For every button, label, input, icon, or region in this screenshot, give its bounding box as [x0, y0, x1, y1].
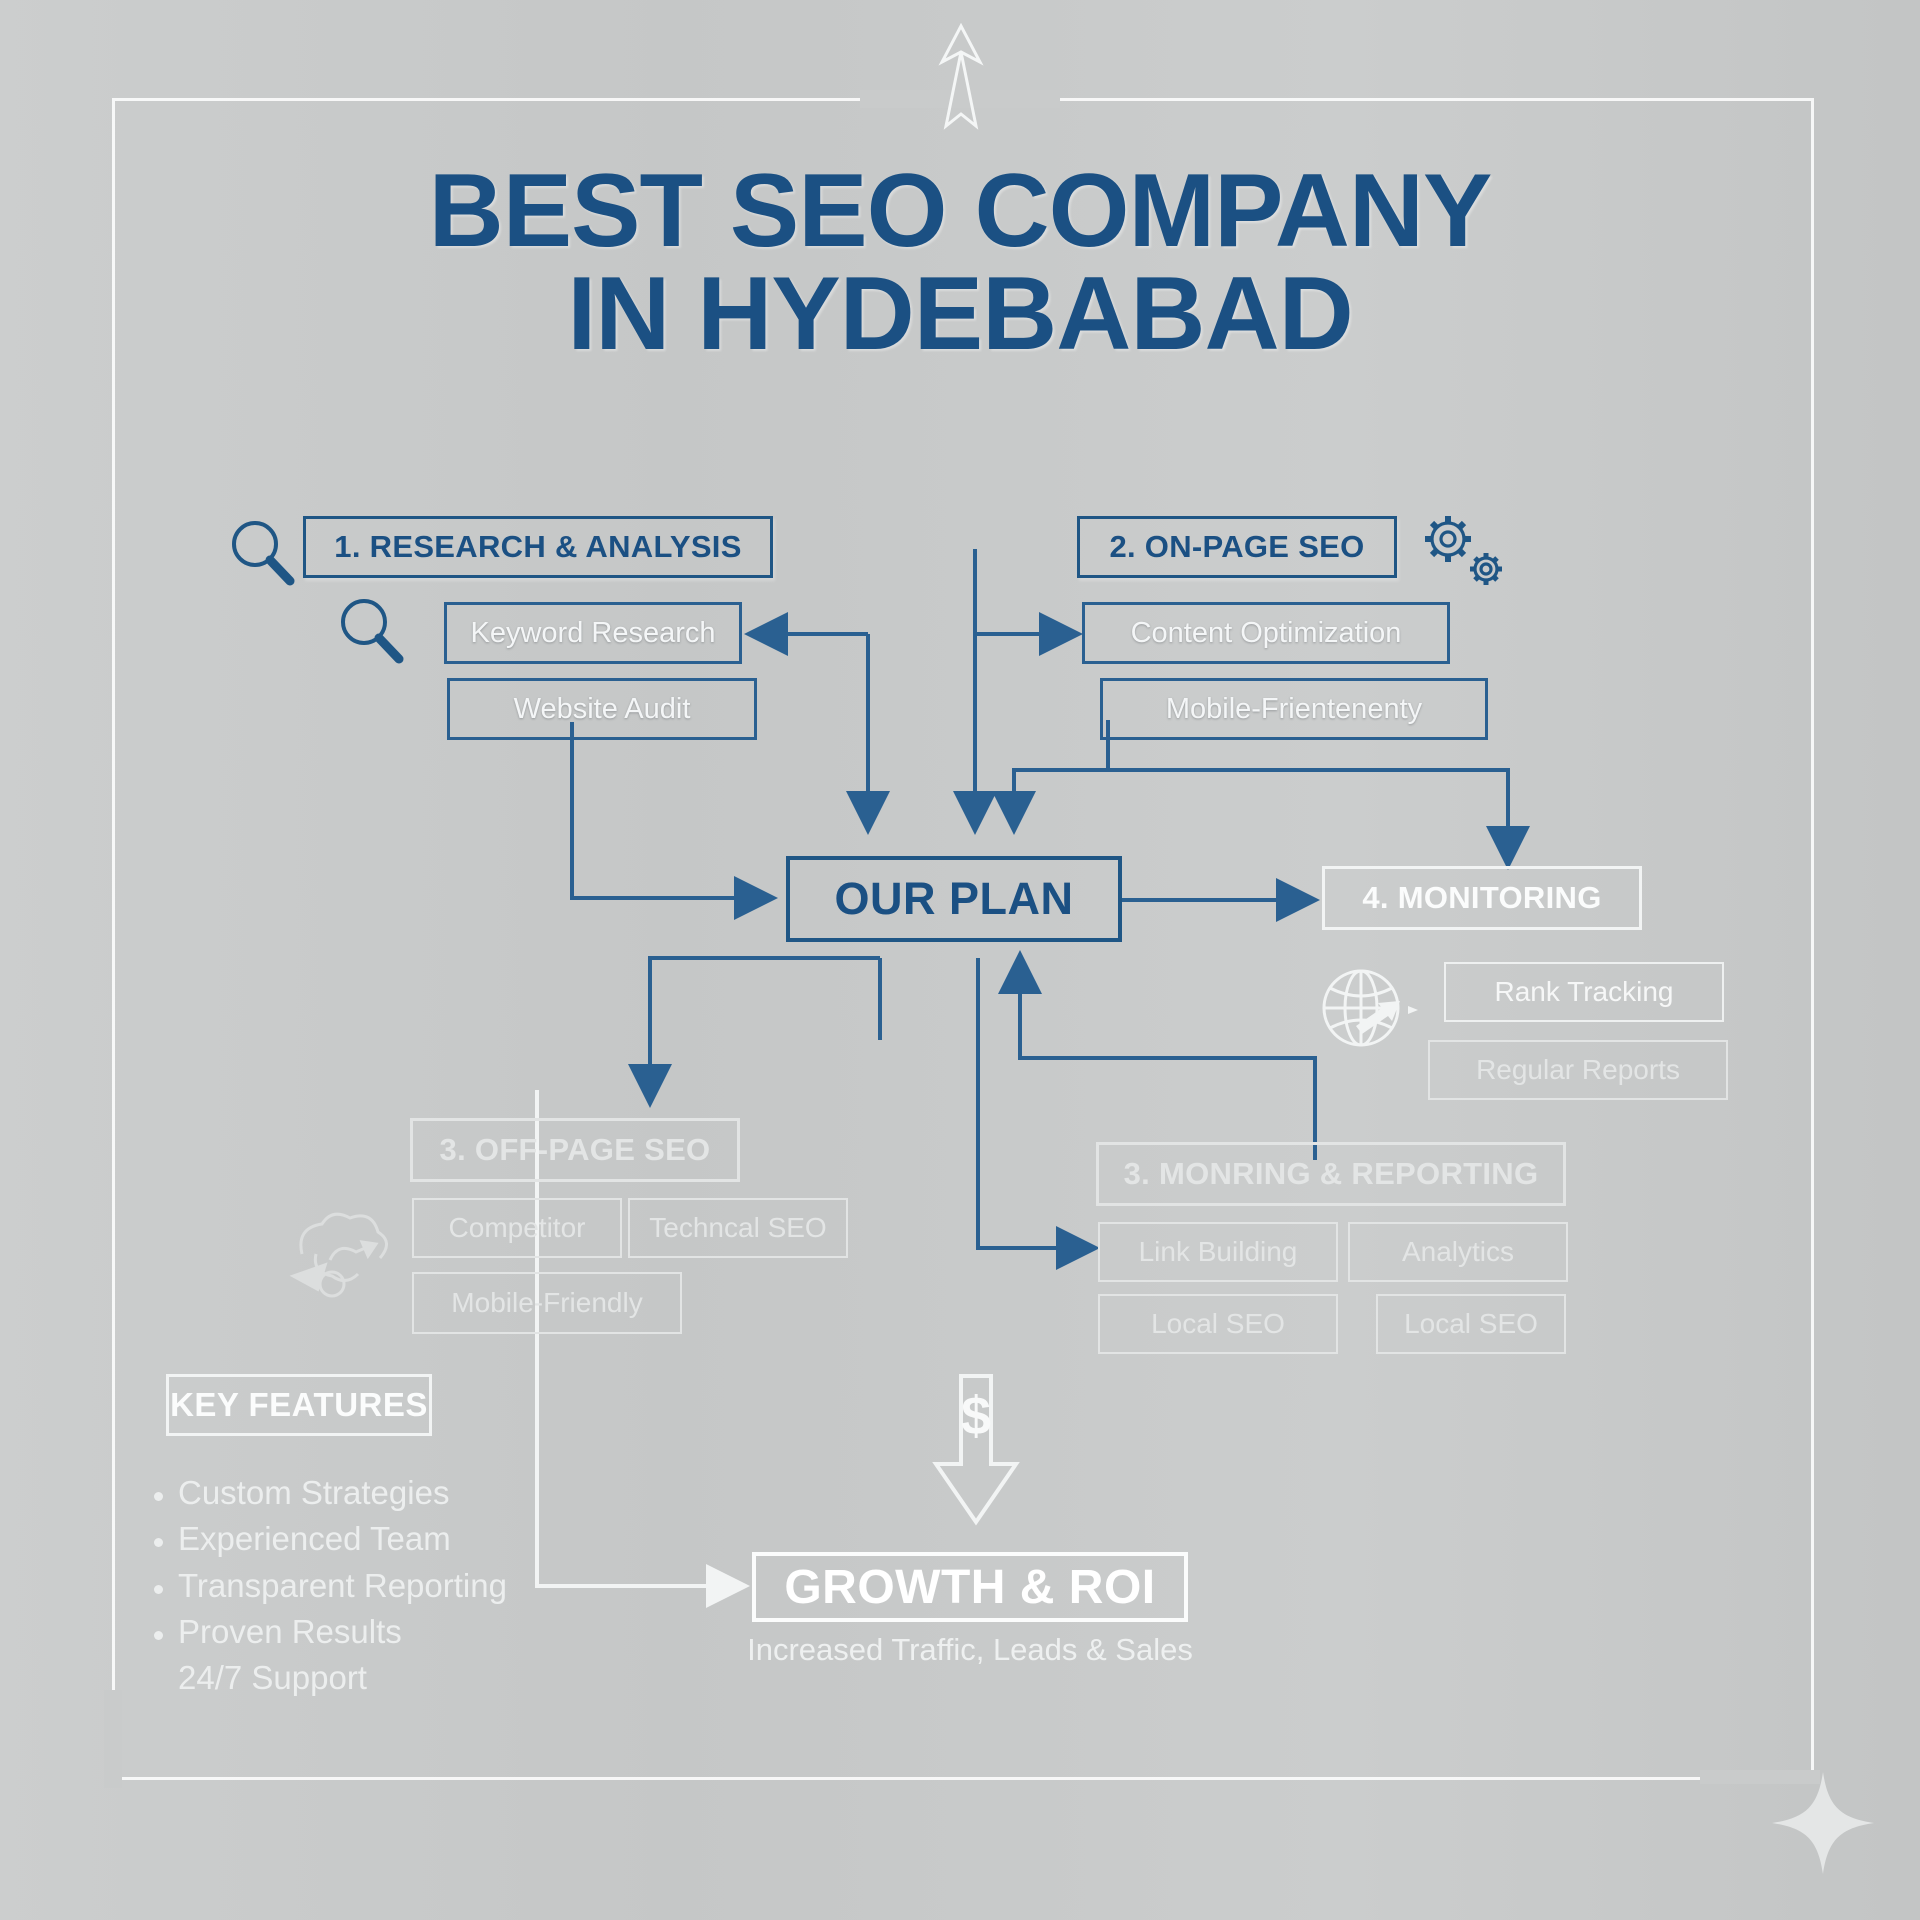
node-offpage-heading[interactable]: 3. OFF-PAGE SEO — [410, 1118, 740, 1182]
node-content-optimization[interactable]: Content Optimization — [1082, 602, 1450, 664]
node-label: Content Optimization — [1131, 617, 1402, 650]
node-label: 2. ON-PAGE SEO — [1109, 529, 1364, 565]
backlink-icon — [276, 1198, 396, 1308]
node-label: Competitor — [449, 1212, 586, 1244]
node-keyword-research[interactable]: Keyword Research — [444, 602, 742, 664]
node-website-audit[interactable]: Website Audit — [447, 678, 757, 740]
node-label: KEY FEATURES — [170, 1386, 428, 1424]
node-rank-tracking[interactable]: Rank Tracking — [1444, 962, 1724, 1022]
node-local-seo-2[interactable]: Local SEO — [1376, 1294, 1566, 1354]
key-features-list: Custom Strategies Experienced Team Trans… — [150, 1474, 670, 1697]
gears-icon — [1410, 506, 1510, 596]
dollar-down-arrow-icon: $ — [928, 1372, 1024, 1534]
node-label: Mobile-Frientenenty — [1166, 693, 1422, 726]
node-link-building[interactable]: Link Building — [1098, 1222, 1338, 1282]
magnifier-icon — [228, 518, 296, 588]
node-competitor[interactable]: Competitor — [412, 1198, 622, 1258]
key-features-heading: KEY FEATURES — [166, 1374, 432, 1436]
node-reporting-heading[interactable]: 3. MONRING & REPORTING — [1096, 1142, 1566, 1206]
list-item: Custom Strategies — [150, 1474, 670, 1512]
title-line-2: IN HYDEBABAD — [0, 263, 1920, 366]
page-title: BEST SEO COMPANY IN HYDEBABAD — [0, 160, 1920, 366]
node-local-seo-1[interactable]: Local SEO — [1098, 1294, 1338, 1354]
title-line-1: BEST SEO COMPANY — [429, 153, 1492, 269]
frame-gap-bottom-left — [104, 1690, 122, 1788]
sparkle-star-icon — [1768, 1768, 1878, 1878]
list-item: Experienced Team — [150, 1520, 670, 1558]
node-mobile-friendly[interactable]: Mobile-Friendly — [412, 1272, 682, 1334]
node-label: Mobile-Friendly — [451, 1287, 642, 1319]
node-research-heading[interactable]: 1. RESEARCH & ANALYSIS — [303, 516, 773, 578]
globe-arrow-icon — [1316, 960, 1426, 1056]
node-label: 4. MONITORING — [1362, 880, 1601, 916]
node-growth-roi[interactable]: GROWTH & ROI — [752, 1552, 1188, 1622]
node-label: GROWTH & ROI — [784, 1560, 1155, 1615]
node-regular-reports[interactable]: Regular Reports — [1428, 1040, 1728, 1100]
compass-north-arrow-icon — [930, 22, 992, 132]
node-techncal-seo[interactable]: Techncal SEO — [628, 1198, 848, 1258]
node-label: Website Audit — [514, 693, 691, 726]
list-item-extra: 24/7 Support — [150, 1659, 670, 1697]
node-label: Techncal SEO — [649, 1212, 826, 1244]
list-item: Proven Results — [150, 1613, 670, 1651]
node-label: 3. OFF-PAGE SEO — [440, 1132, 711, 1168]
bullet-icon — [154, 1538, 163, 1547]
node-label: OUR PLAN — [835, 873, 1074, 925]
node-label: Local SEO — [1404, 1308, 1538, 1340]
bullet-icon — [154, 1585, 163, 1594]
node-our-plan[interactable]: OUR PLAN — [786, 856, 1122, 942]
node-label: Local SEO — [1151, 1308, 1285, 1340]
node-label: 1. RESEARCH & ANALYSIS — [334, 529, 741, 565]
node-label: Analytics — [1402, 1236, 1514, 1268]
node-label: Regular Reports — [1476, 1054, 1680, 1086]
magnifier-icon — [337, 596, 405, 666]
node-monitoring-heading[interactable]: 4. MONITORING — [1322, 866, 1642, 930]
list-item: Transparent Reporting — [150, 1567, 670, 1605]
svg-text:$: $ — [961, 1386, 991, 1446]
node-mobile-frientenenty[interactable]: Mobile-Frientenenty — [1100, 678, 1488, 740]
node-analytics[interactable]: Analytics — [1348, 1222, 1568, 1282]
bullet-icon — [154, 1631, 163, 1640]
node-label: Keyword Research — [471, 617, 716, 650]
bullet-icon — [154, 1492, 163, 1501]
node-label: 3. MONRING & REPORTING — [1124, 1156, 1539, 1192]
node-label: Link Building — [1139, 1236, 1298, 1268]
node-onpage-heading[interactable]: 2. ON-PAGE SEO — [1077, 516, 1397, 578]
growth-subtitle: Increased Traffic, Leads & Sales — [700, 1632, 1240, 1668]
node-label: Rank Tracking — [1495, 976, 1674, 1008]
